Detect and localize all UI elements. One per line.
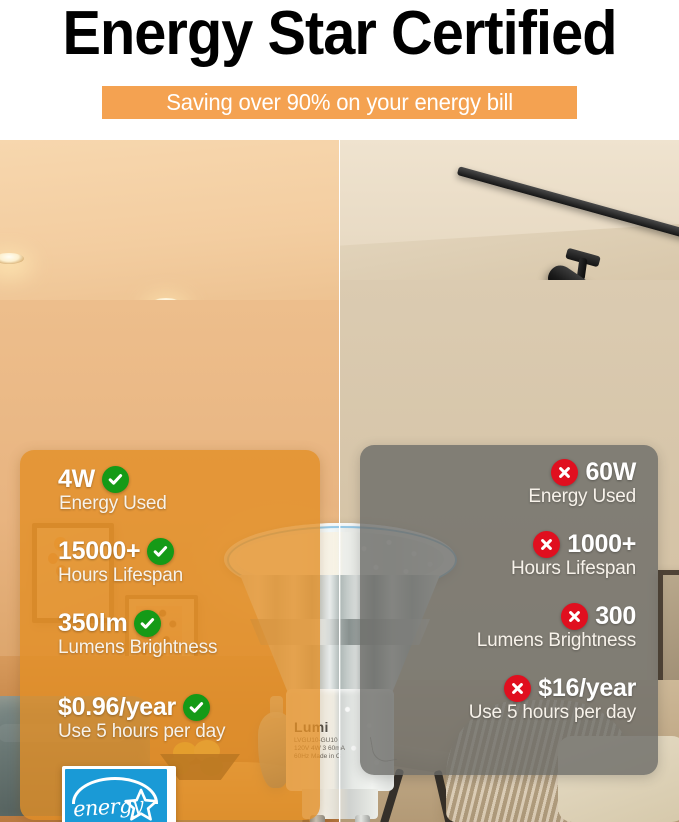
stat-value: 15000+ <box>58 538 140 565</box>
stat-yearly-cost: $16/year Use 5 hours per day <box>469 675 636 724</box>
stat-label: Use 5 hours per day <box>469 702 636 724</box>
stat-label: Lumens Brightness <box>477 630 636 652</box>
stat-label: Hours Lifespan <box>511 558 636 580</box>
stat-energy-used: 4W Energy Used <box>58 466 167 515</box>
stat-lumens-brightness: 350lm Lumens Brightness <box>58 610 217 659</box>
halogen-stats-card: 60W Energy Used 1000+ Hours Lifespan <box>360 445 658 775</box>
energy-star-badge-inner: energy ENERGY STAR <box>65 769 167 822</box>
stat-hours-lifespan: 15000+ Hours Lifespan <box>58 538 183 587</box>
stat-label: Use 5 hours per day <box>58 721 225 743</box>
cross-circle-icon <box>533 531 560 558</box>
stat-energy-used: 60W Energy Used <box>528 459 636 508</box>
cross-circle-icon <box>504 675 531 702</box>
star-outline-icon <box>123 787 159 822</box>
check-circle-icon <box>183 694 210 721</box>
stat-value: 4W <box>58 466 95 493</box>
page-title: Energy Star Certified <box>24 2 655 66</box>
stat-value: 60W <box>585 459 636 486</box>
bulb-pin <box>355 815 370 822</box>
energy-star-badge: energy ENERGY STAR <box>62 766 176 822</box>
stat-label: Energy Used <box>58 493 167 515</box>
check-circle-icon <box>147 538 174 565</box>
stat-yearly-cost: $0.96/year Use 5 hours per day <box>58 694 225 743</box>
stat-value: 350lm <box>58 610 127 637</box>
cross-circle-icon <box>551 459 578 486</box>
panel-divider <box>339 140 340 822</box>
energy-star-logo-top: energy <box>65 769 167 822</box>
bulb-split-line <box>340 523 341 822</box>
check-circle-icon <box>134 610 161 637</box>
stat-label: Hours Lifespan <box>58 565 183 587</box>
stat-value: 1000+ <box>567 531 636 558</box>
check-circle-icon <box>102 466 129 493</box>
stat-value: $16/year <box>538 675 636 702</box>
stat-label: Lumens Brightness <box>58 637 217 659</box>
led-stats-card: 4W Energy Used 15000+ Hours Lifespan <box>20 450 320 820</box>
infographic-page: Energy Star Certified Saving over 90% on… <box>0 0 679 822</box>
stat-value: $0.96/year <box>58 694 176 721</box>
stat-lumens-brightness: 300 Lumens Brightness <box>477 603 636 652</box>
stat-hours-lifespan: 1000+ Hours Lifespan <box>511 531 636 580</box>
stat-value: 300 <box>595 603 636 630</box>
subtitle-text: Saving over 90% on your energy bill <box>166 89 513 116</box>
subtitle-banner: Saving over 90% on your energy bill <box>102 86 577 119</box>
comparison-panels: Lumi LVGU10-GU10 120V 4W 3 60mA 60Hz Mad… <box>0 140 679 822</box>
cross-circle-icon <box>561 603 588 630</box>
stat-label: Energy Used <box>528 486 636 508</box>
ceiling <box>0 140 339 305</box>
header: Energy Star Certified Saving over 90% on… <box>0 0 679 140</box>
